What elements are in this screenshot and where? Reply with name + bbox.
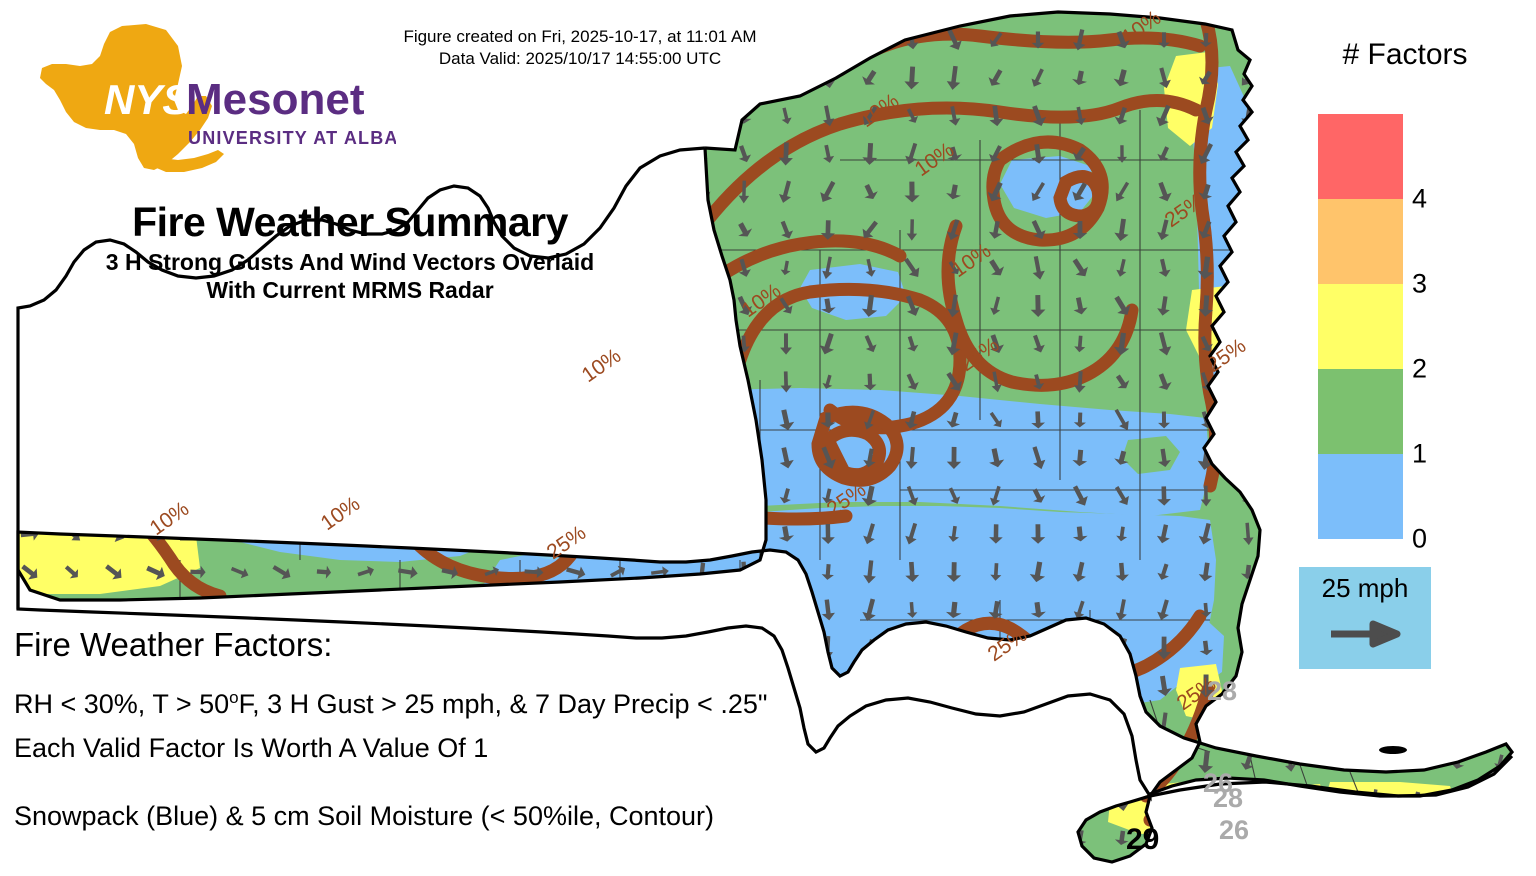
wind-arrow-icon bbox=[439, 450, 461, 465]
wind-arrow-icon bbox=[1113, 332, 1131, 356]
wind-arrow-icon bbox=[947, 639, 960, 657]
wind-arrow-icon bbox=[1490, 522, 1510, 546]
wind-arrow-icon bbox=[945, 601, 962, 619]
wind-arrow-icon bbox=[1030, 255, 1047, 281]
wind-arrow-icon bbox=[821, 488, 835, 505]
wind-arrow-icon bbox=[861, 334, 879, 355]
wind-arrow-icon bbox=[1029, 67, 1048, 89]
wind-arrow-icon bbox=[739, 181, 750, 204]
wind-arrow-icon bbox=[907, 219, 918, 241]
contour-label: 25% bbox=[956, 333, 1004, 376]
wind-arrow-icon bbox=[988, 826, 1004, 850]
wind-arrow-icon bbox=[904, 335, 920, 354]
wind-arrow-icon bbox=[946, 677, 963, 695]
wind-arrow-icon bbox=[694, 294, 709, 318]
wind-arrow-icon bbox=[1241, 714, 1255, 734]
wind-arrow-icon bbox=[777, 525, 795, 543]
wind-arrow-icon bbox=[1493, 753, 1507, 770]
wind-arrow-icon bbox=[62, 601, 83, 619]
wind-arrow-icon bbox=[19, 484, 41, 507]
wind-arrow-icon bbox=[1280, 181, 1299, 202]
wind-arrow-icon bbox=[735, 144, 753, 165]
wind-arrow-icon bbox=[1282, 791, 1297, 810]
wind-arrow-icon bbox=[1408, 790, 1425, 809]
wind-arrow-icon bbox=[1114, 830, 1130, 846]
wind-arrow-icon bbox=[1367, 789, 1381, 812]
wind-arrow-icon bbox=[1197, 334, 1215, 354]
wind-arrow-icon bbox=[101, 523, 127, 545]
wind-arrow-icon bbox=[439, 336, 461, 352]
wind-arrow-icon bbox=[441, 525, 459, 543]
wind-arrow-icon bbox=[903, 485, 920, 508]
wind-arrow-icon bbox=[862, 448, 878, 469]
contour-label: 25% bbox=[1173, 672, 1221, 715]
wind-arrow-icon bbox=[482, 409, 503, 430]
wind-arrow-icon bbox=[437, 487, 462, 505]
wind-arrow-icon bbox=[1072, 829, 1089, 847]
wind-arrow-icon bbox=[1238, 142, 1258, 166]
wind-arrow-icon bbox=[1449, 601, 1466, 619]
wind-arrow-icon bbox=[187, 447, 209, 469]
wind-arrow-icon bbox=[524, 448, 545, 468]
wind-arrow-icon bbox=[272, 335, 293, 353]
wind-arrow-icon bbox=[314, 487, 333, 505]
wind-arrow-icon bbox=[1239, 331, 1256, 356]
wind-arrow-icon bbox=[397, 335, 418, 353]
wind-arrow-icon bbox=[1156, 218, 1173, 241]
wind-arrow-icon bbox=[780, 260, 792, 276]
wind-arrow-icon bbox=[1113, 753, 1131, 771]
wind-arrow-icon bbox=[1155, 826, 1173, 850]
wind-arrow-icon bbox=[1032, 675, 1044, 698]
wind-arrow-icon bbox=[1114, 788, 1130, 812]
wind-arrow-icon bbox=[102, 376, 127, 389]
wind-arrow-icon bbox=[400, 105, 415, 127]
wind-arrow-icon bbox=[1493, 640, 1508, 657]
wind-arrow-icon bbox=[270, 447, 294, 469]
wind-arrow-icon bbox=[1158, 32, 1170, 48]
wind-arrow-icon bbox=[1156, 448, 1172, 468]
wind-arrow-icon bbox=[1029, 143, 1046, 164]
wind-arrow-icon bbox=[1196, 105, 1215, 126]
wind-arrow-icon bbox=[1197, 445, 1216, 471]
wind-arrow-icon bbox=[945, 486, 962, 506]
wind-arrow-icon bbox=[568, 337, 585, 351]
wind-arrow-icon bbox=[1491, 408, 1509, 432]
notes-spacer bbox=[14, 770, 914, 794]
wind-arrow-icon bbox=[736, 410, 753, 431]
wind-arrow-icon bbox=[1196, 68, 1215, 88]
wind-arrow-icon bbox=[905, 447, 919, 470]
wind-arrow-icon bbox=[1240, 564, 1255, 580]
wind-arrow-icon bbox=[20, 526, 40, 542]
wind-arrow-icon bbox=[484, 603, 501, 617]
wind-arrow-icon bbox=[694, 106, 709, 125]
wind-arrow-icon bbox=[228, 338, 252, 349]
wind-arrow-icon bbox=[1074, 639, 1086, 657]
wind-arrow-icon bbox=[1070, 144, 1090, 164]
wind-arrow-icon bbox=[735, 372, 752, 392]
wind-arrow-icon bbox=[1197, 182, 1215, 201]
figure-created-text: Figure created on Fri, 2025-10-17, at 11… bbox=[360, 26, 800, 48]
wind-arrow-icon bbox=[1028, 104, 1049, 129]
wind-arrow-icon bbox=[316, 565, 331, 579]
wind-arrow-icon bbox=[1198, 410, 1214, 430]
wind-arrow-icon bbox=[987, 30, 1006, 50]
wind-arrow-icon bbox=[986, 333, 1006, 356]
wind-arrow-icon bbox=[103, 409, 125, 431]
wind-arrow-icon bbox=[1154, 180, 1174, 203]
wind-arrow-icon bbox=[990, 675, 1002, 698]
wind-arrow-icon bbox=[779, 598, 793, 623]
contour-label: 10% bbox=[856, 89, 904, 132]
wind-key-label: 25 mph bbox=[1299, 573, 1431, 604]
wind-arrow-icon bbox=[61, 523, 84, 544]
wind-arrow-icon bbox=[862, 143, 878, 166]
wind-arrow-icon bbox=[904, 66, 920, 90]
wind-arrow-icon bbox=[316, 602, 332, 618]
wind-arrow-icon bbox=[1238, 257, 1259, 279]
wind-arrow-icon bbox=[1407, 827, 1425, 849]
wind-arrow-icon bbox=[563, 523, 589, 544]
wind-arrow-icon bbox=[1283, 752, 1296, 773]
wind-arrow-icon bbox=[817, 445, 838, 472]
notes-criteria-part-b: F, 3 H Gust > 25 mph, & 7 Day Precip < .… bbox=[239, 689, 768, 719]
wind-arrow-icon bbox=[693, 411, 711, 429]
wind-arrow-icon bbox=[605, 525, 630, 543]
wind-arrow-icon bbox=[1198, 830, 1213, 847]
wind-arrow-icon bbox=[61, 373, 84, 392]
wind-arrow-icon bbox=[1280, 409, 1300, 431]
wind-arrow-icon bbox=[1492, 371, 1509, 394]
colorbar-band-1 bbox=[1318, 369, 1403, 454]
wind-arrow-icon bbox=[103, 333, 125, 354]
legend-title: # Factors bbox=[1290, 38, 1520, 72]
wind-arrow-icon bbox=[564, 450, 588, 467]
wind-arrow-icon bbox=[608, 335, 629, 354]
wind-arrow-icon bbox=[904, 107, 921, 126]
wind-vector-key: 25 mph bbox=[1299, 567, 1431, 669]
wind-arrow-icon bbox=[481, 337, 503, 351]
wind-arrow-icon bbox=[102, 602, 126, 618]
wind-arrow-icon bbox=[1117, 145, 1127, 162]
wind-arrow-icon bbox=[862, 409, 878, 431]
fire-weather-summary-figure: 10%10%10%25%10%10%25%25%10%25%10%10%25%2… bbox=[0, 0, 1536, 876]
wind-arrow-icon bbox=[1493, 560, 1508, 584]
wind-arrow-icon bbox=[1323, 676, 1341, 696]
wind-arrow-icon bbox=[395, 598, 420, 623]
wind-arrow-icon bbox=[1028, 218, 1049, 242]
wind-arrow-icon bbox=[146, 373, 167, 391]
wind-arrow-icon bbox=[102, 561, 125, 584]
wind-arrow-icon bbox=[524, 566, 544, 579]
wind-arrow-icon bbox=[818, 331, 839, 356]
wind-arrow-icon bbox=[1115, 712, 1129, 736]
wind-arrow-icon bbox=[608, 563, 628, 581]
contour-label: 10% bbox=[1118, 6, 1166, 49]
logo-university-text: UNIVERSITY AT ALBANY bbox=[188, 128, 396, 148]
wind-arrow-icon bbox=[988, 600, 1005, 620]
wind-arrow-icon bbox=[820, 105, 835, 128]
wind-arrow-icon bbox=[1155, 145, 1172, 164]
wind-arrow-icon bbox=[903, 142, 921, 167]
wind-arrow-icon bbox=[1240, 373, 1255, 391]
wind-arrow-icon bbox=[1029, 561, 1048, 584]
wind-arrow-icon bbox=[1112, 484, 1133, 508]
wind-arrow-icon bbox=[1157, 486, 1171, 506]
wind-arrow-icon bbox=[1283, 485, 1297, 508]
wind-arrow-icon bbox=[1031, 751, 1045, 774]
wind-arrow-icon bbox=[1409, 752, 1422, 771]
wind-arrow-icon bbox=[1490, 333, 1509, 355]
wind-arrow-icon bbox=[696, 525, 709, 543]
wind-arrow-icon bbox=[103, 487, 126, 505]
wind-arrow-icon bbox=[272, 373, 292, 391]
wind-arrow-icon bbox=[1200, 33, 1212, 48]
wind-arrow-icon bbox=[314, 411, 333, 428]
wind-arrow-icon bbox=[563, 484, 589, 507]
wind-arrow-icon bbox=[524, 600, 544, 620]
wind-arrow-icon bbox=[1282, 715, 1297, 733]
wind-arrow-icon bbox=[484, 526, 501, 543]
wind-arrow-icon bbox=[1239, 486, 1258, 507]
logo-nys-text: NYS bbox=[104, 76, 190, 123]
wind-arrow-icon bbox=[736, 602, 752, 618]
wind-arrow-icon bbox=[693, 259, 711, 277]
wind-arrow-icon bbox=[736, 108, 752, 124]
wind-arrow-icon bbox=[652, 145, 667, 163]
wind-arrow-icon bbox=[780, 333, 792, 354]
gust-value-label: 28 bbox=[1207, 676, 1237, 706]
wind-arrow-icon bbox=[1281, 674, 1300, 698]
wind-arrow-icon bbox=[1240, 445, 1255, 470]
wind-arrow-icon bbox=[355, 525, 377, 543]
wind-arrow-icon bbox=[945, 218, 964, 242]
wind-arrow-icon bbox=[653, 107, 668, 126]
wind-arrow-icon bbox=[1239, 752, 1257, 772]
wind-arrow-icon bbox=[991, 754, 1002, 769]
wind-arrow-icon bbox=[1409, 676, 1423, 696]
wind-arrow-icon bbox=[904, 562, 919, 583]
wind-arrow-icon bbox=[650, 372, 670, 392]
wind-arrow-icon bbox=[734, 486, 753, 505]
wind-arrow-icon bbox=[860, 485, 879, 508]
wind-arrow-icon bbox=[1284, 145, 1297, 163]
wind-arrow-icon bbox=[525, 106, 543, 126]
wind-arrow-icon bbox=[1284, 522, 1297, 546]
wind-arrow-icon bbox=[736, 449, 751, 466]
wind-arrow-icon bbox=[862, 560, 877, 584]
wind-arrow-icon bbox=[483, 565, 500, 580]
wind-arrow-icon bbox=[738, 335, 750, 353]
wind-arrow-icon bbox=[612, 68, 624, 87]
wind-arrow-icon bbox=[1072, 715, 1088, 733]
contour-label: 25% bbox=[984, 623, 1032, 666]
wind-arrow-icon bbox=[1112, 29, 1132, 51]
wind-arrow-icon bbox=[863, 373, 876, 390]
wind-arrow-icon bbox=[735, 524, 753, 543]
wind-arrow-icon bbox=[1492, 791, 1507, 809]
wind-arrow-icon bbox=[1492, 598, 1508, 622]
wind-arrow-icon bbox=[1243, 678, 1254, 693]
wind-arrow-icon bbox=[1071, 561, 1089, 584]
wind-arrow-icon bbox=[438, 375, 462, 389]
wind-arrow-icon bbox=[1240, 294, 1257, 318]
wind-arrow-icon bbox=[947, 716, 960, 732]
wind-arrow-icon bbox=[1195, 141, 1217, 167]
wind-arrow-icon bbox=[270, 561, 294, 582]
wind-arrow-icon bbox=[1450, 715, 1466, 733]
wind-arrow-icon bbox=[1071, 296, 1088, 316]
wind-arrow-icon bbox=[780, 371, 792, 392]
wind-arrow-icon bbox=[17, 449, 42, 466]
wind-arrow-icon bbox=[1198, 640, 1213, 656]
wind-arrow-icon bbox=[946, 105, 961, 126]
title-block: Fire Weather Summary 3 H Strong Gusts An… bbox=[30, 196, 670, 304]
wind-arrow-icon bbox=[1071, 28, 1088, 52]
wind-arrow-icon bbox=[63, 487, 81, 504]
wind-arrow-icon bbox=[521, 331, 547, 358]
wind-arrow-icon bbox=[353, 372, 379, 392]
wind-arrow-icon bbox=[1196, 219, 1215, 241]
wind-arrow-icon bbox=[228, 449, 252, 467]
wind-arrow-icon bbox=[1198, 371, 1215, 393]
wind-arrow-icon bbox=[647, 411, 672, 428]
wind-arrow-icon bbox=[1241, 827, 1255, 850]
gust-value-label: 28 bbox=[1213, 783, 1243, 813]
wind-arrow-icon bbox=[312, 373, 336, 392]
wind-arrow-icon bbox=[733, 294, 755, 318]
wind-arrow-icon bbox=[1072, 751, 1088, 773]
wind-arrow-icon bbox=[906, 602, 918, 618]
wind-arrow-icon bbox=[779, 142, 794, 166]
wind-arrow-icon bbox=[395, 485, 420, 508]
wind-arrow-icon bbox=[1073, 221, 1087, 239]
wind-arrow-icon bbox=[1282, 599, 1297, 621]
wind-arrow-icon bbox=[1113, 449, 1131, 466]
wind-arrow-icon bbox=[1198, 674, 1213, 697]
wind-arrow-icon bbox=[737, 561, 751, 582]
wind-arrow-icon bbox=[1451, 565, 1465, 580]
wind-arrow-icon bbox=[1156, 712, 1171, 736]
wind-arrow-icon bbox=[1493, 487, 1508, 506]
wind-arrow-icon bbox=[1491, 674, 1509, 699]
wind-arrow-icon bbox=[567, 143, 584, 164]
wind-arrow-icon bbox=[1071, 69, 1089, 86]
wind-arrow-icon bbox=[942, 369, 965, 394]
wind-arrow-icon bbox=[858, 218, 881, 242]
wind-arrow-icon bbox=[1032, 828, 1044, 847]
wind-arrow-icon bbox=[612, 143, 624, 164]
wind-arrow-icon bbox=[650, 603, 671, 617]
wind-arrow-icon bbox=[861, 522, 879, 546]
colorbar-tick-4: 4 bbox=[1412, 184, 1427, 215]
wind-arrow-icon bbox=[228, 486, 253, 507]
wind-arrow-icon bbox=[821, 564, 834, 581]
wind-arrow-icon bbox=[859, 104, 880, 129]
wind-arrow-icon bbox=[1281, 255, 1299, 280]
wind-arrow-icon bbox=[1281, 104, 1298, 127]
factors-colorbar bbox=[1318, 114, 1403, 539]
wind-arrow-icon bbox=[1032, 31, 1045, 48]
wind-arrow-icon bbox=[188, 525, 208, 543]
wind-arrow-icon bbox=[1197, 256, 1216, 281]
wind-arrow-icon bbox=[1491, 448, 1509, 468]
wind-arrow-icon bbox=[521, 373, 546, 392]
wind-arrow-icon bbox=[1492, 716, 1507, 733]
degree-symbol: o bbox=[229, 688, 238, 707]
wind-arrow-icon bbox=[648, 448, 672, 467]
wind-arrow-icon bbox=[356, 564, 375, 579]
wind-arrow-icon bbox=[652, 68, 668, 88]
wind-arrow-icon bbox=[1281, 637, 1298, 660]
wind-arrow-icon bbox=[1157, 789, 1172, 811]
wind-arrow-icon bbox=[1028, 180, 1048, 204]
wind-arrow-icon bbox=[695, 143, 708, 166]
wind-arrow-icon bbox=[227, 599, 253, 621]
wind-arrow-icon bbox=[188, 336, 208, 351]
wind-arrow-icon bbox=[1365, 751, 1383, 773]
wind-arrow-icon bbox=[1073, 106, 1087, 126]
wind-arrow-icon bbox=[1242, 640, 1254, 656]
wind-arrow-icon bbox=[1110, 293, 1134, 319]
wind-arrow-icon bbox=[693, 335, 710, 353]
wind-arrow-icon bbox=[185, 412, 211, 429]
wind-arrow-icon bbox=[146, 489, 166, 502]
wind-arrow-icon bbox=[1028, 445, 1047, 471]
fire-weather-factors-notes: Fire Weather Factors: RH < 30%, T > 50oF… bbox=[14, 622, 914, 838]
wind-arrow-icon bbox=[1238, 30, 1257, 50]
colorbar-tick-2: 2 bbox=[1412, 354, 1427, 385]
wind-arrow-icon bbox=[904, 182, 920, 203]
wind-arrow-icon bbox=[1030, 295, 1045, 317]
wind-arrow-icon bbox=[398, 371, 419, 392]
wind-arrow-icon bbox=[779, 561, 793, 584]
wind-arrow-icon bbox=[1368, 827, 1380, 849]
wind-arrow-icon bbox=[441, 564, 460, 581]
wind-arrow-icon bbox=[821, 256, 835, 280]
wind-arrow-icon bbox=[695, 599, 708, 620]
colorbar-band-0 bbox=[1318, 454, 1403, 539]
wind-arrow-icon bbox=[227, 410, 252, 430]
wind-arrow-icon bbox=[779, 107, 793, 126]
wind-arrow-icon bbox=[1158, 751, 1170, 773]
wind-arrow-icon bbox=[1242, 522, 1254, 545]
wind-arrow-icon bbox=[440, 601, 460, 619]
wind-arrow-icon bbox=[442, 145, 459, 164]
page-title: Fire Weather Summary bbox=[30, 196, 670, 248]
wind-arrow-icon bbox=[988, 485, 1004, 507]
wind-arrow-icon bbox=[1201, 486, 1212, 507]
wind-arrow-icon bbox=[480, 372, 503, 391]
wind-arrow-icon bbox=[144, 561, 168, 582]
wind-arrow-icon bbox=[1154, 372, 1173, 393]
wind-key-arrow-icon bbox=[1299, 619, 1431, 654]
wind-arrow-icon bbox=[1074, 412, 1087, 427]
colorbar-band-3 bbox=[1318, 199, 1403, 284]
wind-arrow-icon bbox=[1323, 753, 1341, 771]
wind-arrow-icon bbox=[1111, 407, 1132, 433]
wind-arrow-icon bbox=[692, 371, 711, 393]
wind-arrow-icon bbox=[398, 410, 418, 429]
colorbar-band-4 bbox=[1318, 114, 1403, 199]
wind-arrow-icon bbox=[356, 452, 377, 463]
wind-arrow-icon bbox=[1072, 789, 1088, 812]
wind-arrow-icon bbox=[481, 105, 503, 128]
wind-arrow-icon bbox=[777, 219, 795, 241]
wind-arrow-icon bbox=[817, 179, 840, 205]
wind-arrow-icon bbox=[1114, 598, 1129, 621]
